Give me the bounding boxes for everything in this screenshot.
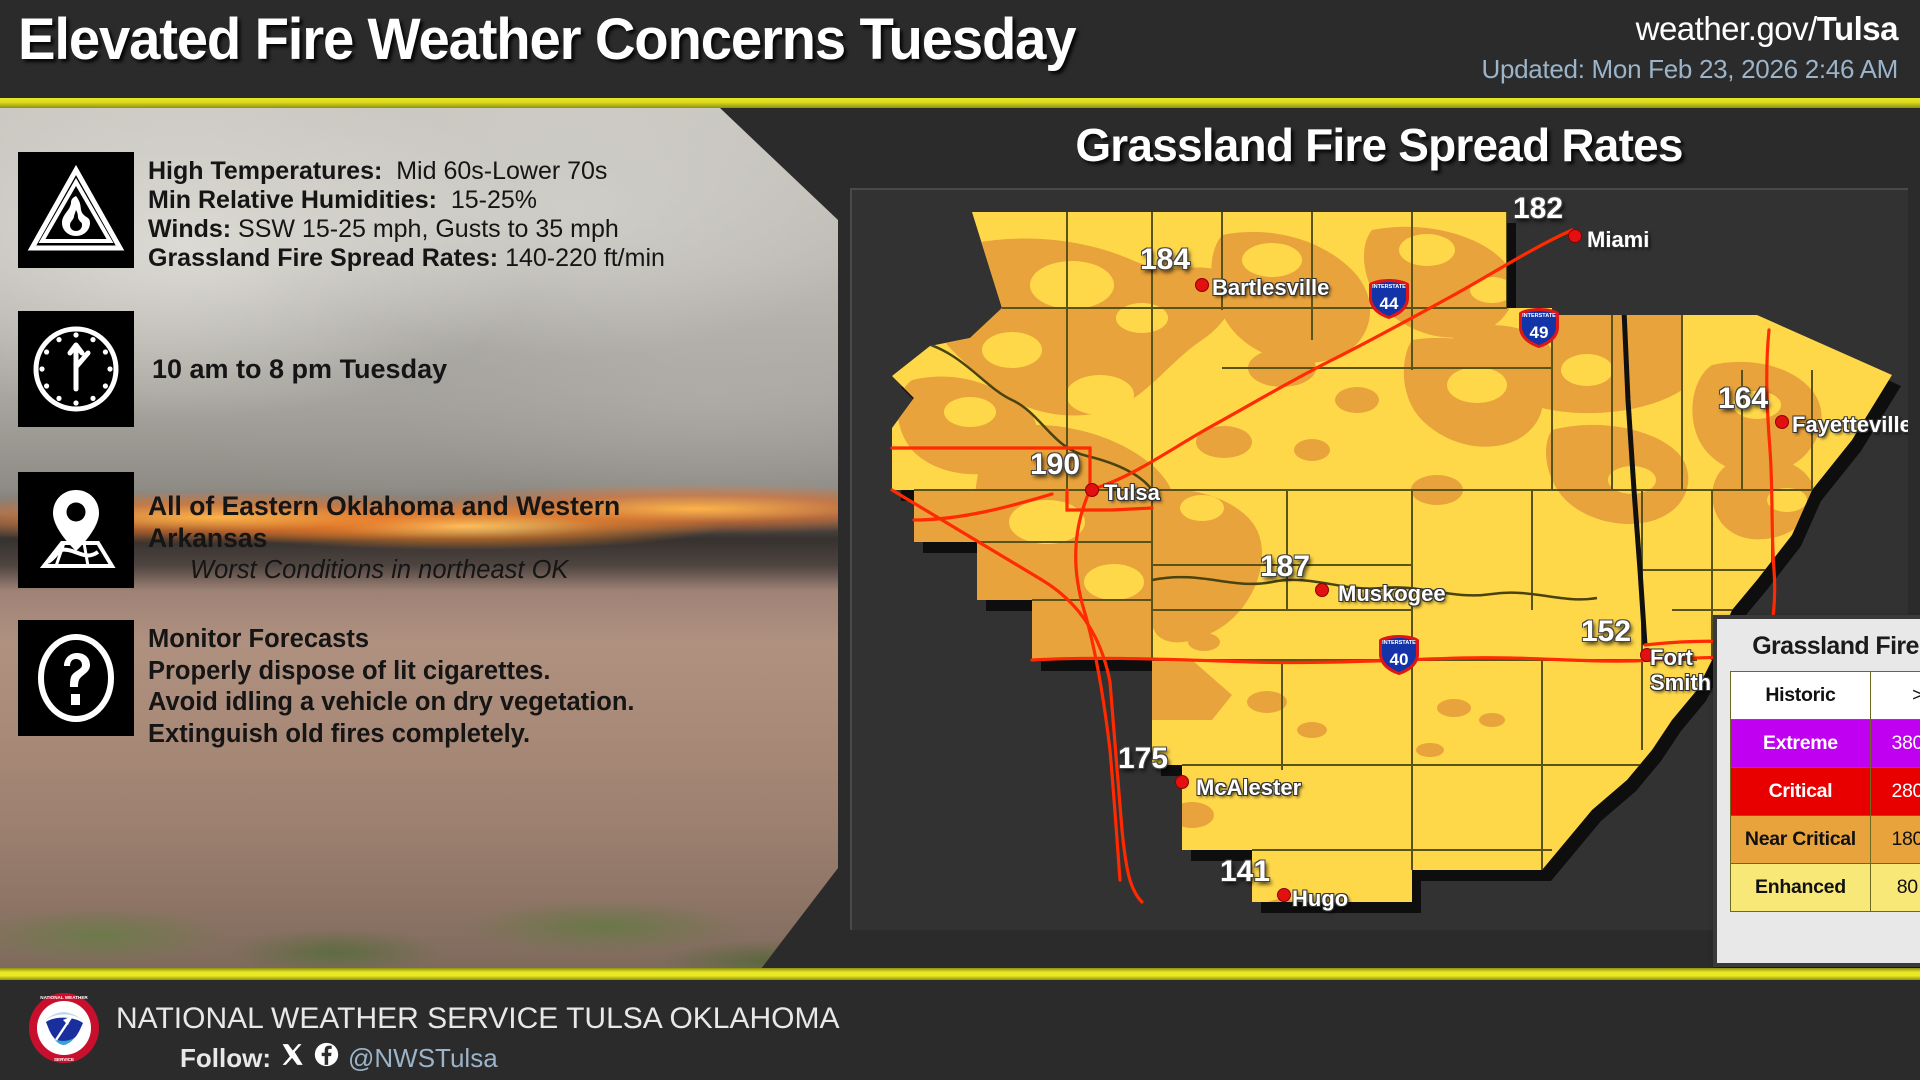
svg-text:NATIONAL WEATHER: NATIONAL WEATHER	[40, 995, 88, 1000]
city-label-muskogee: Muskogee	[1338, 581, 1446, 607]
fire-hazard-triangle-icon	[18, 152, 134, 268]
timing-text: 10 am to 8 pm Tuesday	[152, 355, 447, 384]
safety-text-block: Monitor Forecasts Properly dispose of li…	[148, 624, 634, 750]
rate-label-tulsa: 190	[1030, 448, 1080, 482]
header-right-block: weather.gov/Tulsa Updated: Mon Feb 23, 2…	[1482, 10, 1899, 85]
map-panel: Grassland Fire Spread Rates	[838, 108, 1920, 970]
safety-line-2: Avoid idling a vehicle on dry vegetation…	[148, 687, 634, 719]
condition-label-2: Winds:	[148, 215, 231, 243]
city-label-tulsa: Tulsa	[1104, 480, 1160, 506]
condition-value-3: 140-220 ft/min	[505, 244, 665, 272]
rate-label-bartlesville: 184	[1140, 243, 1190, 277]
condition-value-0: Mid 60s-Lower 70s	[396, 157, 607, 185]
area-text-block: All of Eastern Oklahoma and Western Arka…	[148, 490, 620, 586]
footer-organization: NATIONAL WEATHER SERVICE TULSA OKLAHOMA	[116, 1002, 840, 1036]
conditions-text-block: High Temperatures: Mid 60s-Lower 70s Min…	[148, 157, 665, 273]
interstate-shield-49: INTERSTATE 49	[1517, 307, 1561, 349]
svg-text:INTERSTATE: INTERSTATE	[1522, 313, 1556, 319]
svg-text:INTERSTATE: INTERSTATE	[1372, 284, 1406, 290]
legend-table: Historic > 480 feet/minute Extreme 380 t…	[1730, 671, 1920, 912]
svg-text:INTERSTATE: INTERSTATE	[1382, 640, 1416, 646]
clock-icon	[18, 311, 134, 427]
svg-text:SERVICE: SERVICE	[54, 1057, 74, 1062]
question-mark-icon	[18, 620, 134, 736]
rate-label-fortsmith: 152	[1581, 615, 1631, 649]
x-twitter-icon[interactable]	[280, 1042, 305, 1074]
header-bar: Elevated Fire Weather Concerns Tuesday w…	[0, 0, 1920, 103]
legend-category-historic: Historic	[1730, 672, 1870, 720]
map-title: Grassland Fire Spread Rates	[838, 118, 1920, 172]
footer-follow-block: Follow: @NWSTulsa	[180, 1042, 498, 1074]
social-handle: @NWSTulsa	[348, 1043, 498, 1074]
area-row: All of Eastern Oklahoma and Western Arka…	[18, 472, 620, 588]
legend-range-extreme: 380 to 479 feet/minute	[1871, 720, 1920, 768]
legend-row-near-critical: Near Critical 180 to 279 feet/minute	[1730, 816, 1920, 864]
rate-label-muskogee: 187	[1260, 550, 1310, 584]
interstate-shield-40: INTERSTATE 40	[1377, 634, 1421, 676]
nws-logo-icon: NATIONAL WEATHER SERVICE	[28, 992, 100, 1064]
timing-row: 10 am to 8 pm Tuesday	[18, 311, 447, 427]
map-pin-icon	[18, 472, 134, 588]
condition-line-0: High Temperatures: Mid 60s-Lower 70s	[148, 157, 665, 186]
city-label-mcalester: McAlester	[1196, 775, 1301, 801]
legend-category-enhanced: Enhanced	[1730, 864, 1870, 912]
condition-label-3: Grassland Fire Spread Rates:	[148, 244, 498, 272]
rate-label-hugo: 141	[1220, 855, 1270, 889]
legend-range-near-critical: 180 to 279 feet/minute	[1871, 816, 1920, 864]
safety-line-1: Properly dispose of lit cigarettes.	[148, 656, 634, 688]
safety-row: Monitor Forecasts Properly dispose of li…	[18, 620, 634, 750]
legend-title: Grassland Fire Spread Rates	[1722, 624, 1920, 671]
legend-range-critical: 280 to 379 feet/minute	[1871, 768, 1920, 816]
svg-text:44: 44	[1380, 294, 1399, 313]
footer-bar: NATIONAL WEATHER SERVICE NATIONAL WEATHE…	[0, 980, 1920, 1080]
city-label-hugo: Hugo	[1292, 886, 1348, 912]
condition-line-1: Min Relative Humidities: 15-25%	[148, 186, 665, 215]
follow-label: Follow:	[180, 1043, 271, 1074]
condition-value-2: SSW 15-25 mph, Gusts to 35 mph	[238, 215, 619, 243]
city-label-fayetteville: Fayetteville	[1792, 412, 1908, 438]
infographic-root: Elevated Fire Weather Concerns Tuesday w…	[0, 0, 1920, 1080]
legend-box: Grassland Fire Spread Rates Historic > 4…	[1713, 615, 1920, 967]
area-note: Worst Conditions in northeast OK	[148, 554, 620, 586]
updated-timestamp: Updated: Mon Feb 23, 2026 2:46 AM	[1482, 54, 1899, 85]
site-url-office: Tulsa	[1817, 10, 1898, 47]
facebook-icon[interactable]	[314, 1042, 339, 1074]
condition-line-2: Winds: SSW 15-25 mph, Gusts to 35 mph	[148, 215, 665, 244]
area-line-1: All of Eastern Oklahoma and Western	[148, 490, 620, 522]
rate-label-mcalester: 175	[1118, 742, 1168, 776]
safety-line-0: Monitor Forecasts	[148, 624, 634, 656]
conditions-row: High Temperatures: Mid 60s-Lower 70s Min…	[18, 152, 665, 273]
safety-line-3: Extinguish old fires completely.	[148, 719, 634, 751]
rate-label-fayetteville: 164	[1718, 382, 1768, 416]
legend-category-near-critical: Near Critical	[1730, 816, 1870, 864]
condition-value-1: 15-25%	[451, 186, 537, 214]
condition-line-3: Grassland Fire Spread Rates: 140-220 ft/…	[148, 244, 665, 273]
legend-range-historic: > 480 feet/minute	[1871, 672, 1920, 720]
condition-label-0: High Temperatures:	[148, 157, 382, 185]
legend-row-enhanced: Enhanced 80 to 179 feet/minute	[1730, 864, 1920, 912]
site-url: weather.gov/Tulsa	[1482, 10, 1899, 48]
area-line-2: Arkansas	[148, 522, 620, 554]
left-info-panel: High Temperatures: Mid 60s-Lower 70s Min…	[0, 108, 838, 970]
rate-label-miami: 182	[1513, 192, 1563, 226]
city-label-bartlesville: Bartlesville	[1212, 275, 1329, 301]
site-url-prefix: weather.gov/	[1636, 10, 1817, 47]
legend-row-extreme: Extreme 380 to 479 feet/minute	[1730, 720, 1920, 768]
condition-label-1: Min Relative Humidities:	[148, 186, 437, 214]
legend-row-critical: Critical 280 to 379 feet/minute	[1730, 768, 1920, 816]
timing-text-block: 10 am to 8 pm Tuesday	[152, 355, 447, 384]
legend-inner: Grassland Fire Spread Rates Historic > 4…	[1722, 624, 1920, 958]
header-accent-rule	[0, 98, 1920, 108]
legend-range-enhanced: 80 to 179 feet/minute	[1871, 864, 1920, 912]
svg-text:40: 40	[1390, 650, 1409, 669]
interstate-shield-44: INTERSTATE 44	[1367, 278, 1411, 320]
page-title: Elevated Fire Weather Concerns Tuesday	[18, 6, 1075, 73]
legend-category-extreme: Extreme	[1730, 720, 1870, 768]
city-label-miami: Miami	[1587, 227, 1649, 253]
svg-text:49: 49	[1530, 323, 1549, 342]
legend-category-critical: Critical	[1730, 768, 1870, 816]
legend-row-historic: Historic > 480 feet/minute	[1730, 672, 1920, 720]
footer-accent-rule	[0, 968, 1920, 980]
